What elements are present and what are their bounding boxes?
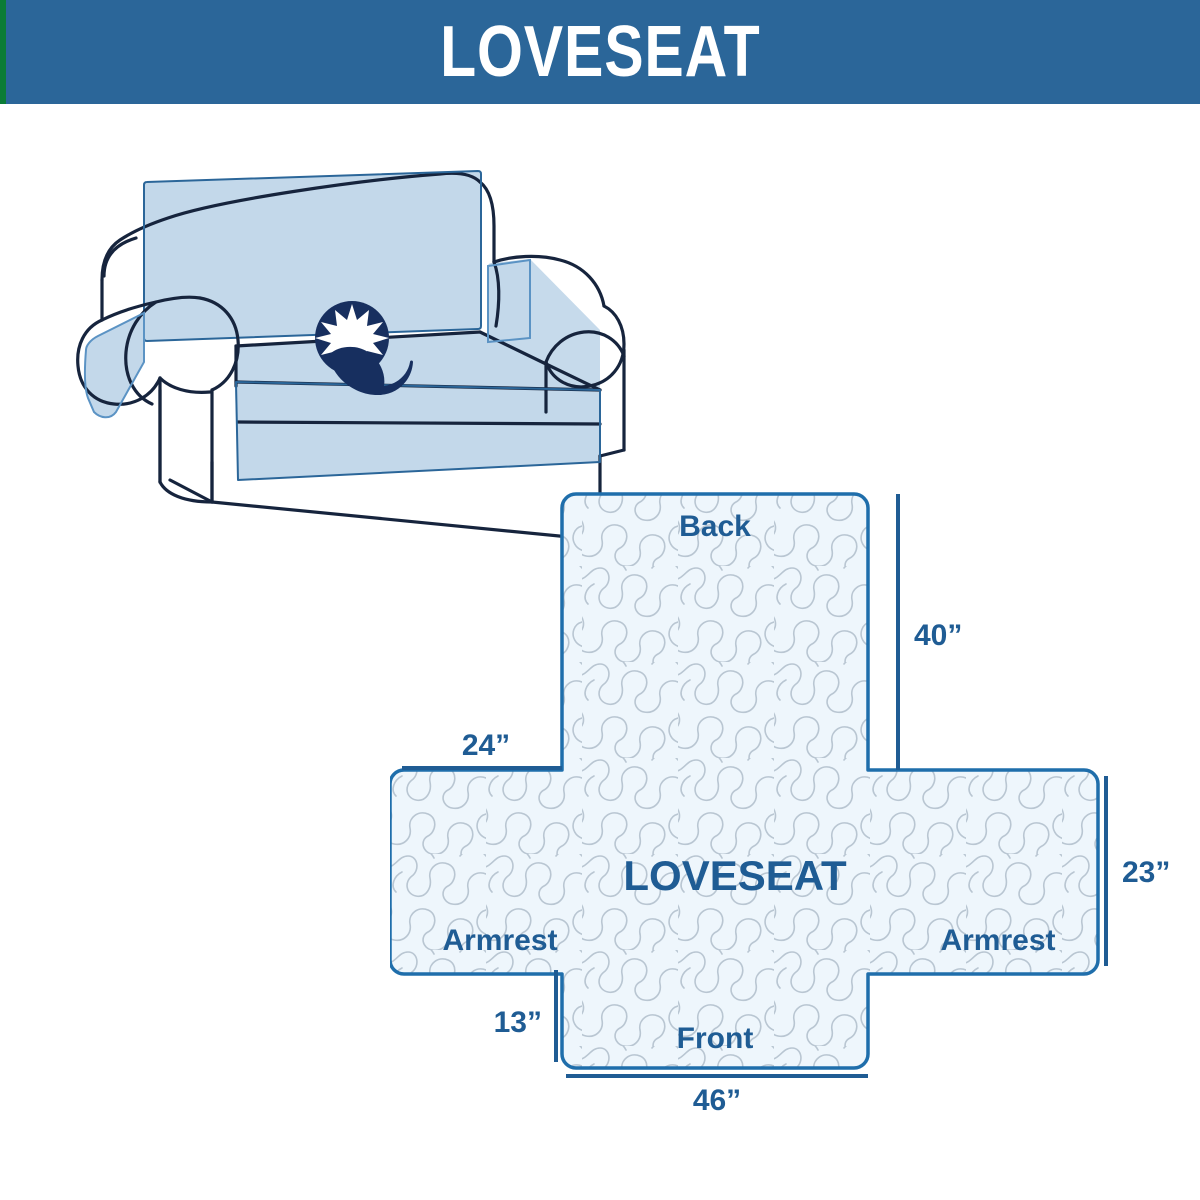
dimension-label-23: 23” <box>1122 856 1170 889</box>
dimension-back-height: 40” <box>898 494 962 770</box>
dimension-front-width: 46” <box>566 1076 868 1117</box>
dimension-label-40: 40” <box>914 619 962 652</box>
dimension-label-46: 46” <box>693 1084 741 1117</box>
dimension-seat-depth: 23” <box>1106 776 1170 966</box>
pattern-diagram-svg: Back LOVESEAT Armrest Armrest Front 40” … <box>390 470 1180 1150</box>
header-bar: LOVESEAT <box>0 0 1200 104</box>
dimension-label-13: 13” <box>494 1006 542 1039</box>
panel-label-back: Back <box>679 510 751 543</box>
page-title: LOVESEAT <box>440 16 760 88</box>
cross-pattern-shape <box>390 494 1098 1068</box>
header-accent-stripe <box>0 0 6 104</box>
dimension-label-24: 24” <box>462 729 510 762</box>
sofa-back-cover-panel <box>144 171 481 341</box>
panel-label-center: LOVESEAT <box>623 852 847 899</box>
dimension-front-height: 13” <box>494 970 556 1062</box>
dimension-back-width: 24” <box>402 729 562 768</box>
pattern-diagram: Back LOVESEAT Armrest Armrest Front 40” … <box>390 470 1180 1150</box>
panel-label-front: Front <box>677 1022 754 1055</box>
panel-label-armrest-left: Armrest <box>442 924 557 957</box>
panel-label-armrest-right: Armrest <box>940 924 1055 957</box>
